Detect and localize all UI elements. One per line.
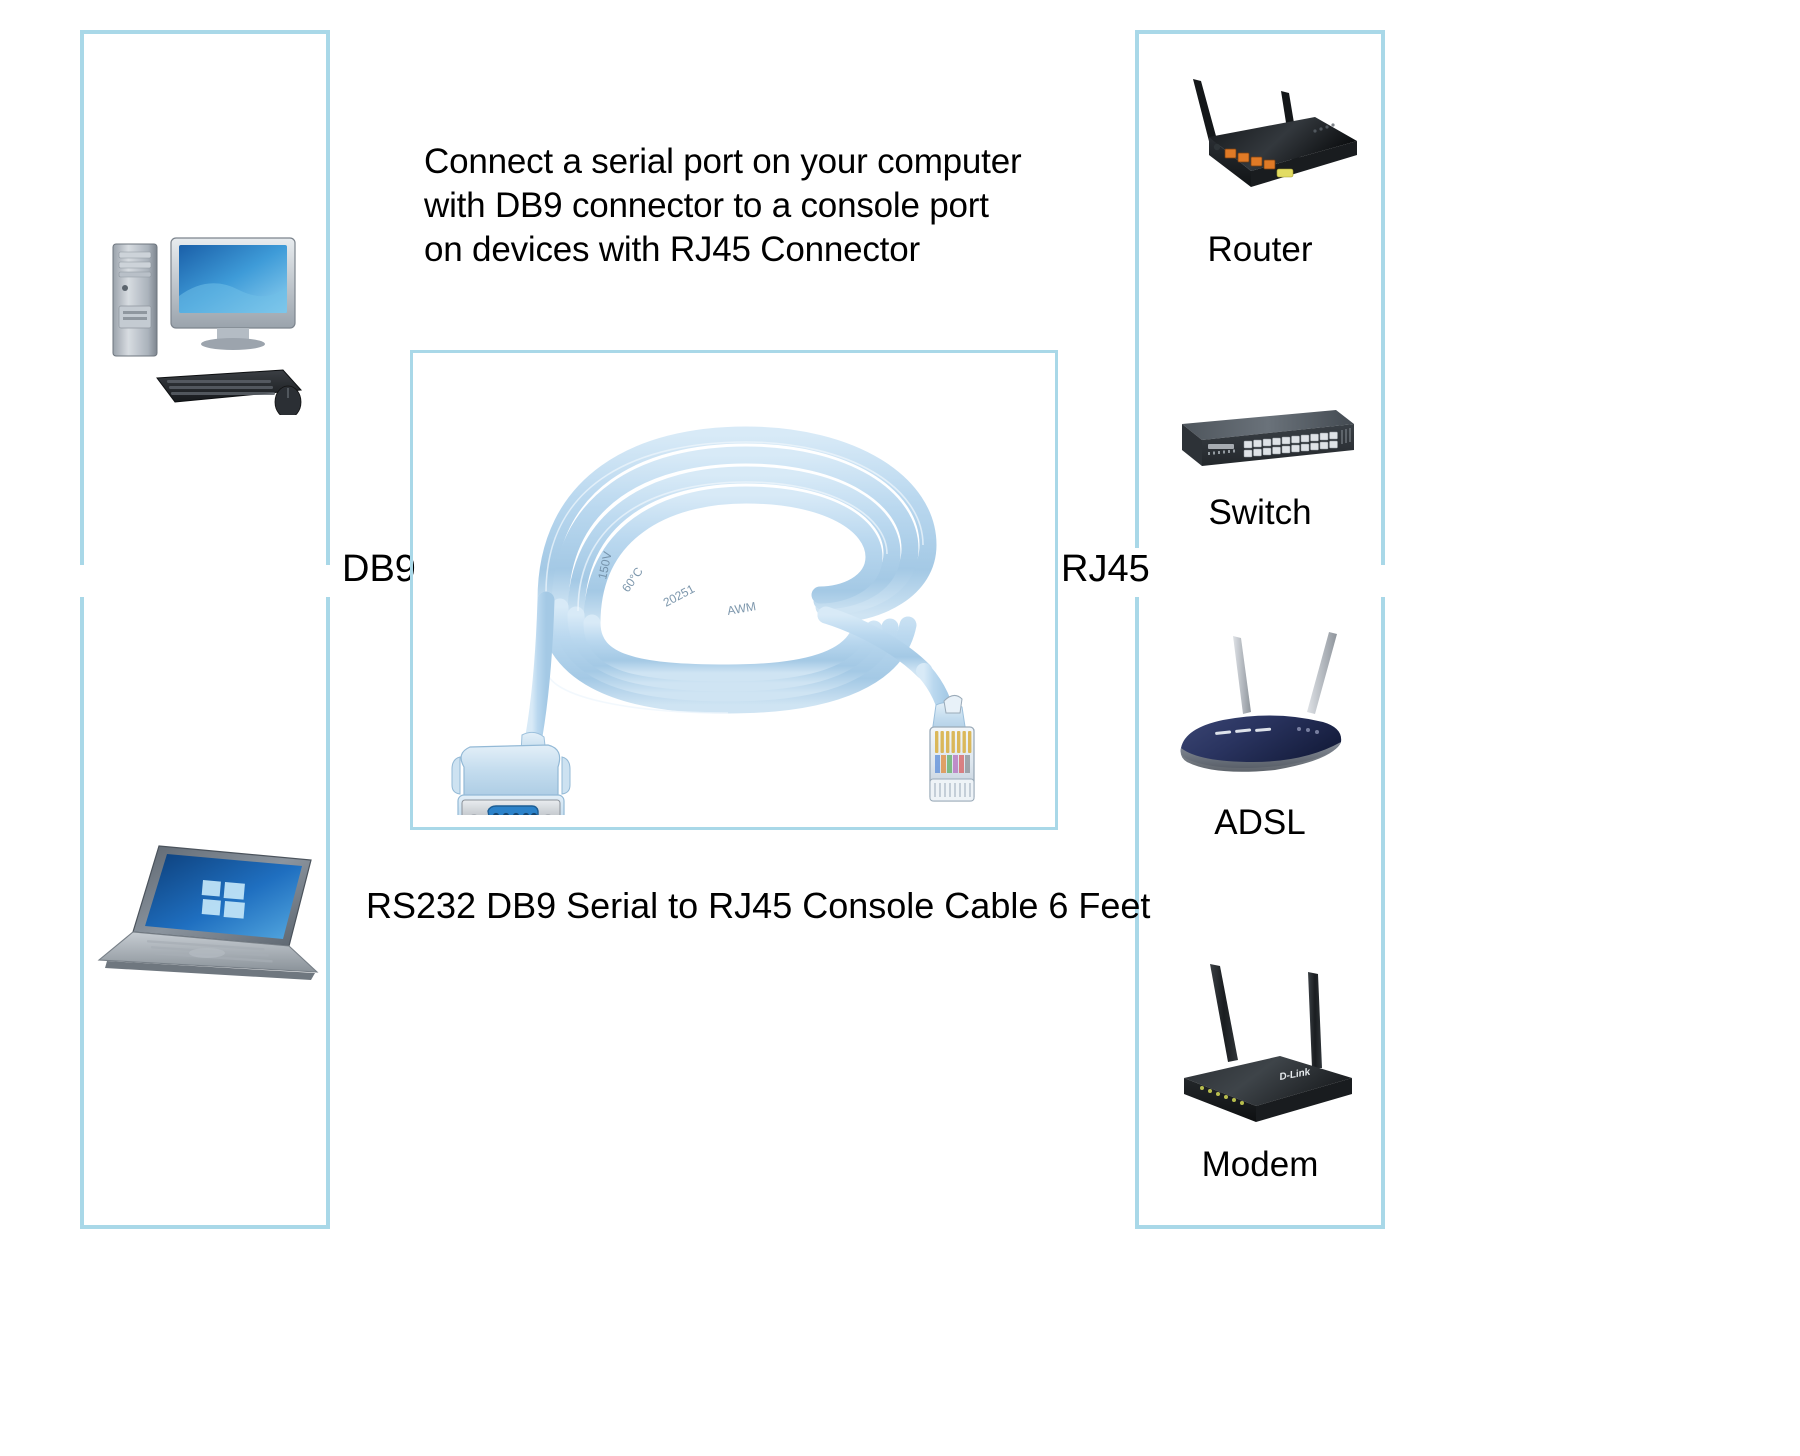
laptop-computer-icon bbox=[85, 840, 325, 990]
router-icon bbox=[1165, 75, 1360, 220]
rj45-connector bbox=[930, 695, 974, 801]
product-caption: RS232 DB9 Serial to RJ45 Console Cable 6… bbox=[366, 885, 1150, 927]
device-label-adsl: ADSL bbox=[1135, 803, 1385, 843]
console-cable-image: 150V 60°C 20251 AWM bbox=[428, 375, 1043, 815]
cable-print-1: 150V bbox=[595, 550, 615, 580]
device-label-modem: Modem bbox=[1135, 1145, 1385, 1185]
desktop-computer-icon bbox=[105, 230, 305, 415]
modem-icon: D-Link bbox=[1160, 960, 1360, 1135]
diagram-canvas: DB9 RJ45 Connect a serial port on your c… bbox=[0, 0, 1800, 1456]
headline-line-2: with DB9 connector to a console port bbox=[424, 184, 1064, 228]
cable-print-3: 20251 bbox=[661, 581, 697, 609]
device-label-router: Router bbox=[1135, 230, 1385, 270]
rj45-connector-label: RJ45 bbox=[1055, 548, 1156, 590]
headline-text: Connect a serial port on your computer w… bbox=[424, 140, 1064, 272]
network-switch-icon bbox=[1168, 400, 1358, 480]
db9-connector bbox=[452, 745, 570, 815]
cable-print-4: AWM bbox=[726, 599, 757, 618]
cable-print-2: 60°C bbox=[619, 564, 646, 594]
headline-line-1: Connect a serial port on your computer bbox=[424, 140, 1064, 184]
headline-line-3: on devices with RJ45 Connector bbox=[424, 228, 1064, 272]
adsl-modem-icon bbox=[1175, 630, 1350, 790]
device-label-switch: Switch bbox=[1135, 493, 1385, 533]
